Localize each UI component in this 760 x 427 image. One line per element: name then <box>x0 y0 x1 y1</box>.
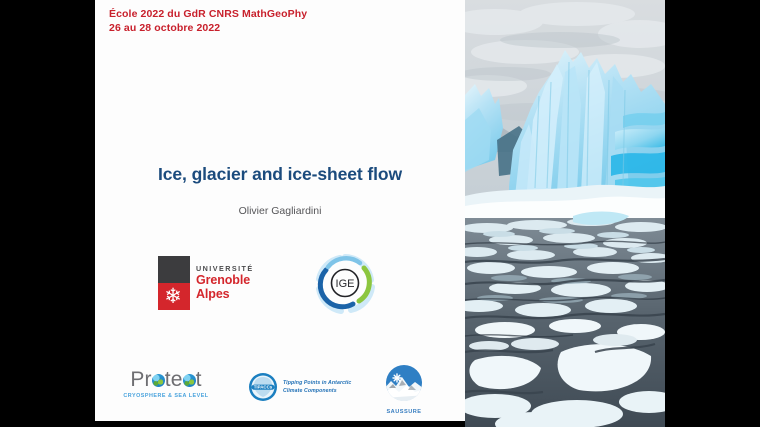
tipaccs-tagline-line-1: Tipping Points in Antarctic <box>283 379 351 387</box>
slide-header: École 2022 du GdR CNRS MathGeoPhy 26 au … <box>109 8 307 36</box>
tipaccs-logo: TiPACCs Tipping Points in Antarctic Clim… <box>248 370 360 404</box>
ige-mark: IGE <box>315 254 375 314</box>
protect-word-mid: te <box>165 368 183 392</box>
page-title: Ice, glacier and ice-sheet flow <box>95 164 465 185</box>
partner-logo-row: Prtet CRYOSPHERE & SEA LEVEL TiPACCs Tip… <box>95 360 465 418</box>
tipaccs-tagline-line-2: Climate Components <box>283 387 351 395</box>
uga-dark-block <box>158 256 190 283</box>
author-name: Olivier Gagliardini <box>95 205 465 217</box>
protect-subtitle: CRYOSPHERE & SEA LEVEL <box>110 393 222 399</box>
header-line-1: École 2022 du GdR CNRS MathGeoPhy <box>109 8 307 22</box>
tipaccs-mark: TiPACCs <box>248 372 278 402</box>
snowflake-icon: ❄ <box>162 286 184 307</box>
at-globe-icon <box>183 374 196 387</box>
presentation-slide: École 2022 du GdR CNRS MathGeoPhy 26 au … <box>95 0 465 421</box>
uga-line-3: Alpes <box>196 288 254 301</box>
tipaccs-mark-label: TiPACCs <box>254 385 273 390</box>
saussure-label: SAUSSURE <box>373 409 435 415</box>
ige-label: IGE <box>336 278 355 290</box>
protect-word-post: t <box>196 368 202 392</box>
saussure-logo: SAUSSURE <box>373 364 435 416</box>
protect-word-pre: Pr <box>130 368 151 392</box>
uga-logo: ❄ UNIVERSITÉ Grenoble Alpes <box>158 256 278 310</box>
uga-line-1: UNIVERSITÉ <box>196 265 254 272</box>
uga-mark: ❄ <box>158 256 190 310</box>
protect-wordmark: Prtet <box>110 368 222 392</box>
snowflake-mountain-icon <box>385 364 423 402</box>
uga-wordmark: UNIVERSITÉ Grenoble Alpes <box>196 265 254 300</box>
header-line-2: 26 au 28 octobre 2022 <box>109 22 307 36</box>
iceberg-and-sea-ice-photo <box>465 0 665 427</box>
primary-logo-row: ❄ UNIVERSITÉ Grenoble Alpes <box>95 252 465 322</box>
uga-line-2: Grenoble <box>196 274 254 287</box>
slide-viewport: École 2022 du GdR CNRS MathGeoPhy 26 au … <box>0 0 760 427</box>
globe-icon <box>152 374 165 387</box>
tipaccs-tagline: Tipping Points in Antarctic Climate Comp… <box>283 379 351 396</box>
protect-logo: Prtet CRYOSPHERE & SEA LEVEL <box>110 368 222 408</box>
ige-logo: IGE <box>315 254 375 314</box>
